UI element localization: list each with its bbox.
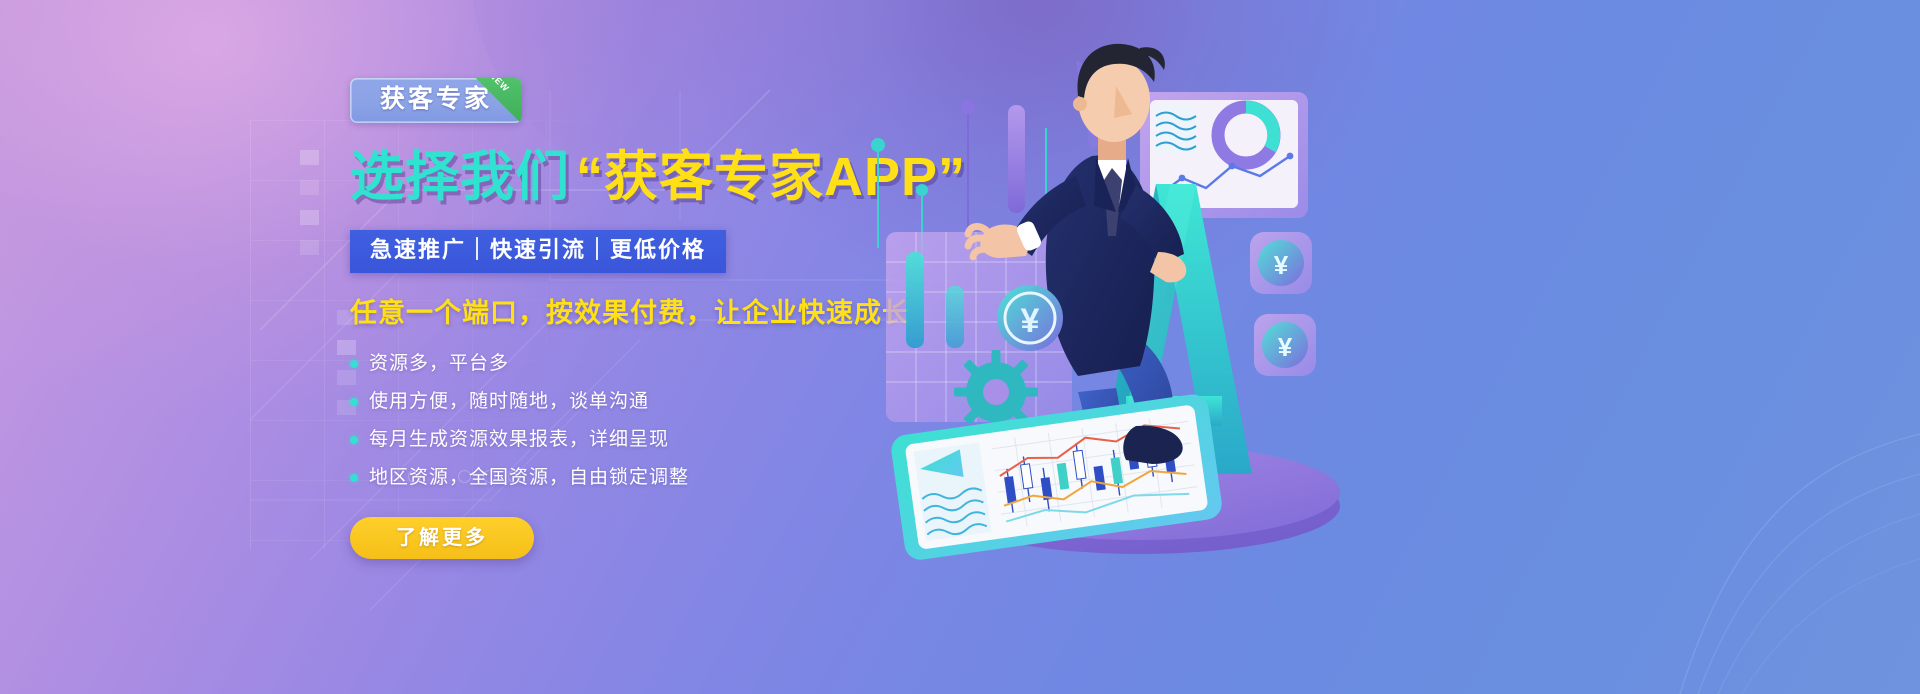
hero-illustration: ¥ ¥ ¥ bbox=[840, 0, 1460, 694]
svg-text:¥: ¥ bbox=[1274, 250, 1289, 280]
list-item-label: 使用方便，随时随地，谈单沟通 bbox=[369, 392, 649, 411]
coin-badge-secondary: ¥ bbox=[1250, 232, 1312, 294]
list-item: 地区资源，全国资源，自由锁定调整 bbox=[350, 468, 910, 487]
bullet-dot-icon bbox=[350, 360, 358, 368]
headline-primary: 选择我们 bbox=[350, 147, 570, 207]
list-item: 使用方便，随时随地，谈单沟通 bbox=[350, 392, 910, 411]
coin-badge-primary: ¥ bbox=[997, 285, 1063, 351]
tablet-wave-tile bbox=[914, 443, 992, 541]
learn-more-button[interactable]: 了解更多 bbox=[350, 517, 534, 559]
tagline: 任意一个端口，按效果付费，让企业快速成长 bbox=[350, 300, 910, 327]
new-ribbon-label: NEW bbox=[487, 78, 511, 94]
bullet-dot-icon bbox=[350, 398, 358, 406]
wave-block bbox=[1156, 106, 1196, 154]
feature-strip: 急速推广｜快速引流｜更低价格 bbox=[350, 230, 726, 273]
svg-text:¥: ¥ bbox=[1278, 332, 1293, 362]
list-item-label: 地区资源，全国资源，自由锁定调整 bbox=[369, 468, 689, 487]
promo-banner: 获客专家 NEW 选择我们“获客专家APP” 急速推广｜快速引流｜更低价格 任意… bbox=[0, 0, 1920, 694]
feature-list: 资源多，平台多 使用方便，随时随地，谈单沟通 每月生成资源效果报表，详细呈现 地… bbox=[350, 354, 910, 487]
page-title: 选择我们“获客专家APP” bbox=[350, 150, 910, 204]
list-item: 每月生成资源效果报表，详细呈现 bbox=[350, 430, 910, 449]
list-item-label: 每月生成资源效果报表，详细呈现 bbox=[369, 430, 669, 449]
background-square-column bbox=[300, 150, 319, 255]
product-badge: 获客专家 NEW bbox=[350, 78, 522, 123]
product-badge-label: 获客专家 bbox=[380, 85, 492, 113]
banner-content: 获客专家 NEW 选择我们“获客专家APP” 急速推广｜快速引流｜更低价格 任意… bbox=[350, 78, 910, 559]
coin-badge-tertiary: ¥ bbox=[1254, 314, 1316, 376]
feature-strip-label: 急速推广｜快速引流｜更低价格 bbox=[370, 237, 706, 262]
learn-more-button-label: 了解更多 bbox=[396, 527, 488, 549]
svg-text:¥: ¥ bbox=[1021, 302, 1040, 340]
bullet-dot-icon bbox=[350, 436, 358, 444]
list-item: 资源多，平台多 bbox=[350, 354, 910, 373]
bullet-dot-icon bbox=[350, 474, 358, 482]
list-item-label: 资源多，平台多 bbox=[369, 354, 509, 373]
